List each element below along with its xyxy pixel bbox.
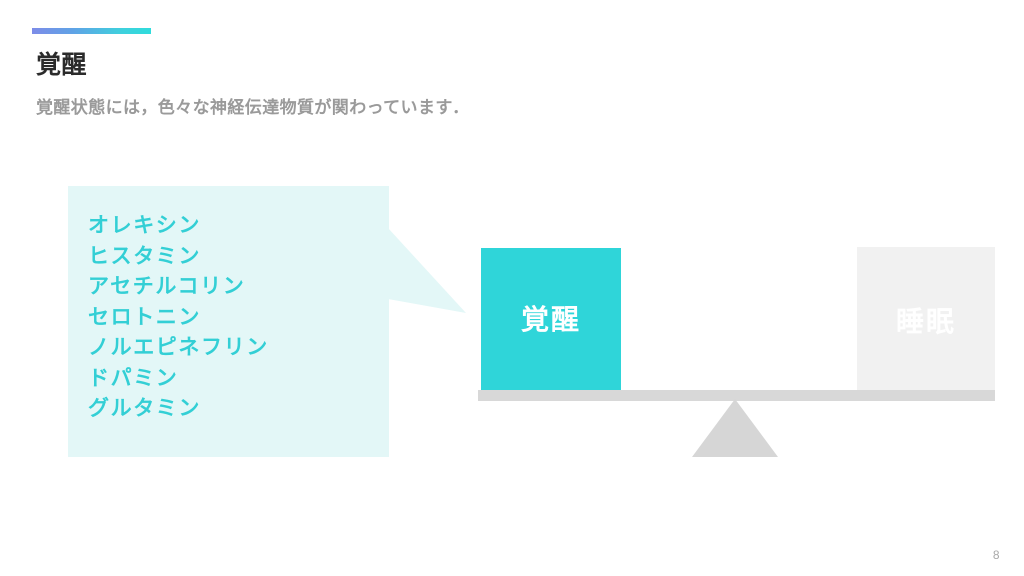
neurotransmitter-list: オレキシン ヒスタミン アセチルコリン セロトニン ノルエピネフリン ドパミン … xyxy=(88,211,269,425)
list-item: セロトニン xyxy=(88,303,269,334)
balance-fulcrum-icon xyxy=(692,399,778,457)
list-item: ヒスタミン xyxy=(88,242,269,273)
page-number: 8 xyxy=(993,548,1000,562)
list-item: アセチルコリン xyxy=(88,272,269,303)
callout-tail-icon xyxy=(388,228,466,313)
balance-pan-sleep: 睡眠 xyxy=(857,247,995,390)
balance-pan-wakefulness-label: 覚醒 xyxy=(521,306,581,334)
slide-subtitle: 覚醒状態には，色々な神経伝達物質が関わっています． xyxy=(36,97,469,119)
slide-canvas: 覚醒 覚醒状態には，色々な神経伝達物質が関わっています． オレキシン ヒスタミン… xyxy=(0,0,1024,576)
list-item: ノルエピネフリン xyxy=(88,333,269,364)
list-item: オレキシン xyxy=(88,211,269,242)
balance-pan-wakefulness: 覚醒 xyxy=(481,248,621,390)
list-item: グルタミン xyxy=(88,394,269,425)
page-title: 覚醒 xyxy=(36,50,87,80)
accent-bar xyxy=(32,28,151,34)
list-item: ドパミン xyxy=(88,364,269,395)
balance-pan-sleep-label: 睡眠 xyxy=(896,308,956,336)
